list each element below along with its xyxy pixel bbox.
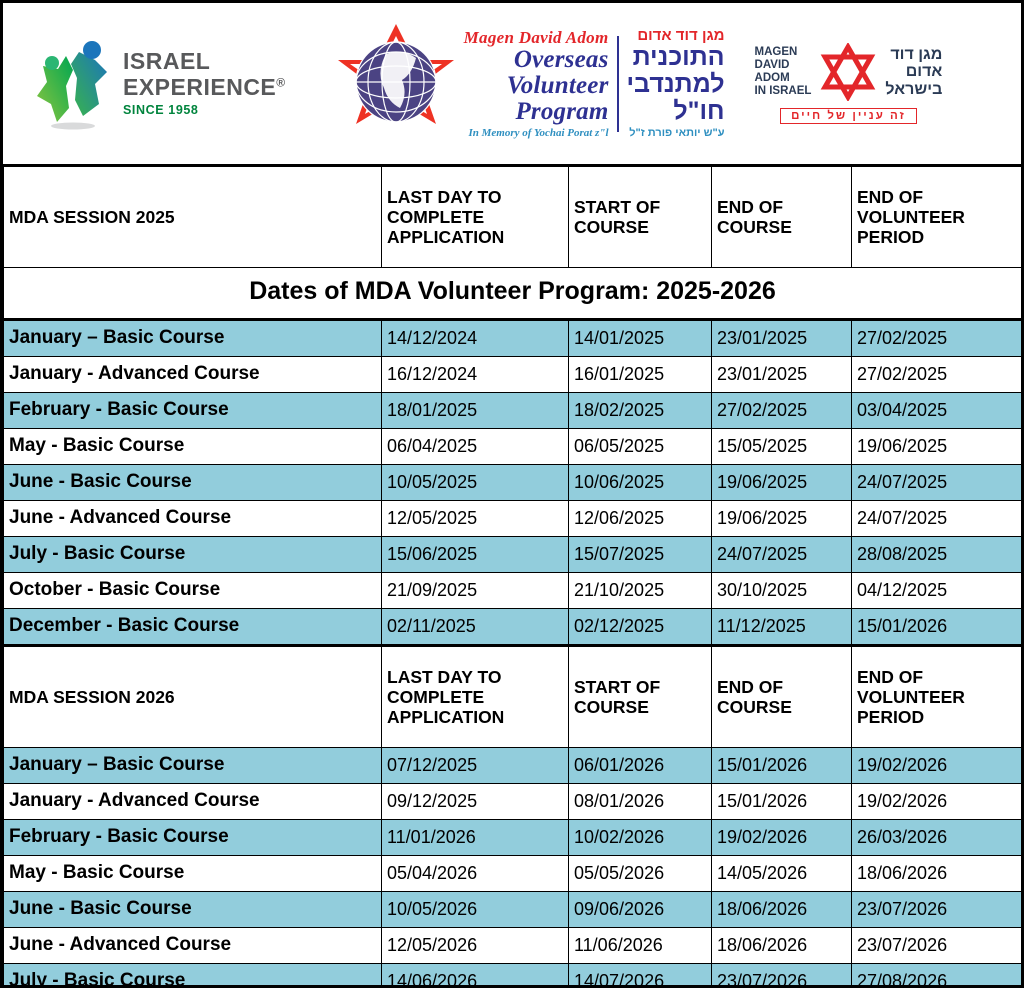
star-of-david-icon: [817, 43, 879, 101]
document-title-row: Dates of MDA Volunteer Program: 2025-202…: [4, 268, 1022, 320]
cell-start-of-course: 05/05/2026: [569, 856, 712, 892]
mda-in-israel-english: MAGEN DAVID ADOM IN ISRAEL: [755, 46, 812, 98]
cell-end-of-volunteer: 03/04/2025: [852, 393, 1022, 429]
cell-last-day: 16/12/2024: [382, 357, 569, 393]
cell-start-of-course: 06/05/2025: [569, 429, 712, 465]
cell-end-of-course: 27/02/2025: [712, 393, 852, 429]
cell-end-of-course: 19/06/2025: [712, 501, 852, 537]
cell-end-of-course: 19/06/2025: [712, 465, 852, 501]
cell-end-of-volunteer: 19/02/2026: [852, 748, 1022, 784]
mda-in-israel-logo: MAGEN DAVID ADOM IN ISRAEL מגן דוד אדום …: [755, 43, 943, 124]
cell-last-day: 18/01/2025: [382, 393, 569, 429]
table-row: June - Basic Course 10/05/2026 09/06/202…: [4, 892, 1022, 928]
cell-start-of-course: 11/06/2026: [569, 928, 712, 964]
israel-experience-line1: ISRAEL: [123, 50, 286, 73]
cell-end-of-course: 30/10/2025: [712, 573, 852, 609]
table-row: June - Basic Course 10/05/2025 10/06/202…: [4, 465, 1022, 501]
table-row: July - Basic Course 14/06/2026 14/07/202…: [4, 964, 1022, 986]
col-header-start-of-course-2025: START OF COURSE: [569, 167, 712, 268]
cell-start-of-course: 14/07/2026: [569, 964, 712, 986]
cell-last-day: 05/04/2026: [382, 856, 569, 892]
cell-last-day: 12/05/2026: [382, 928, 569, 964]
ovp-line1: Overseas: [514, 47, 609, 72]
table-2026-body: January – Basic Course 07/12/2025 06/01/…: [4, 748, 1022, 986]
cell-start-of-course: 10/02/2026: [569, 820, 712, 856]
table-2026-header: MDA SESSION 2026 LAST DAY TO COMPLETE AP…: [4, 647, 1022, 748]
table-row: June - Advanced Course 12/05/2025 12/06/…: [4, 501, 1022, 537]
registered-trademark-icon: ®: [276, 76, 285, 90]
ovp-line2: Volunteer: [507, 73, 609, 98]
israel-experience-logo: ISRAEL EXPERIENCE® SINCE 1958: [33, 38, 286, 130]
cell-session: July - Basic Course: [4, 537, 382, 573]
col-header-start-of-course-2026: START OF COURSE: [569, 647, 712, 748]
israel-experience-tagline: SINCE 1958: [123, 104, 286, 117]
cell-end-of-volunteer: 19/02/2026: [852, 784, 1022, 820]
israel-experience-line2: EXPERIENCE®: [123, 76, 286, 99]
ovp-hebrew-line3: חו"ל: [673, 99, 724, 124]
table-row: January – Basic Course 14/12/2024 14/01/…: [4, 320, 1022, 357]
cell-last-day: 12/05/2025: [382, 501, 569, 537]
ovp-line3: Program: [515, 99, 608, 124]
cell-session: June - Basic Course: [4, 892, 382, 928]
table-session-2026: MDA SESSION 2026 LAST DAY TO COMPLETE AP…: [3, 647, 1021, 985]
table-session-2025: Dates of MDA Volunteer Program: 2025-202…: [3, 167, 1021, 645]
ovp-english-text: Magen David Adom Overseas Volunteer Prog…: [464, 29, 609, 139]
table-row: February - Basic Course 11/01/2026 10/02…: [4, 820, 1022, 856]
table-2025-body: January – Basic Course 14/12/2024 14/01/…: [4, 320, 1022, 645]
cell-end-of-course: 18/06/2026: [712, 928, 852, 964]
cell-start-of-course: 21/10/2025: [569, 573, 712, 609]
cell-last-day: 21/09/2025: [382, 573, 569, 609]
ovp-hebrew-org: מגן דוד אדום: [637, 28, 724, 43]
cell-last-day: 14/12/2024: [382, 320, 569, 357]
cell-session: January - Advanced Course: [4, 357, 382, 393]
table-row: October - Basic Course 21/09/2025 21/10/…: [4, 573, 1022, 609]
table-2025-header: MDA SESSION 2025 LAST DAY TO COMPLETE AP…: [4, 167, 1022, 268]
cell-session: February - Basic Course: [4, 393, 382, 429]
cell-session: December - Basic Course: [4, 609, 382, 645]
cell-end-of-course: 23/01/2025: [712, 357, 852, 393]
col-header-end-of-course-2025: END OF COURSE: [712, 167, 852, 268]
cell-last-day: 07/12/2025: [382, 748, 569, 784]
ovp-hebrew-text: מגן דוד אדום התוכנית למתנדבי חו"ל ע"ש יו…: [627, 28, 725, 139]
document-page: ISRAEL EXPERIENCE® SINCE 1958: [0, 0, 1024, 988]
cell-end-of-course: 24/07/2025: [712, 537, 852, 573]
col-header-end-of-volunteer-2025: END OF VOLUNTEER PERIOD: [852, 167, 1022, 268]
col-header-last-day-2025: LAST DAY TO COMPLETE APPLICATION: [382, 167, 569, 268]
cell-last-day: 15/06/2025: [382, 537, 569, 573]
col-header-session-2026: MDA SESSION 2026: [4, 647, 382, 748]
cell-session: June - Advanced Course: [4, 501, 382, 537]
cell-session: January – Basic Course: [4, 748, 382, 784]
logo-header-band: ISRAEL EXPERIENCE® SINCE 1958: [3, 3, 1021, 167]
cell-session: January – Basic Course: [4, 320, 382, 357]
schedule-tables: Dates of MDA Volunteer Program: 2025-202…: [3, 167, 1021, 985]
cell-end-of-volunteer: 04/12/2025: [852, 573, 1022, 609]
cell-session: June - Advanced Course: [4, 928, 382, 964]
table-row: July - Basic Course 15/06/2025 15/07/202…: [4, 537, 1022, 573]
cell-end-of-volunteer: 23/07/2026: [852, 928, 1022, 964]
cell-end-of-course: 19/02/2026: [712, 820, 852, 856]
ovp-memorial-text: In Memory of Yochai Porat z"l: [468, 128, 608, 139]
col-header-session-2025: MDA SESSION 2025: [4, 167, 382, 268]
cell-end-of-course: 15/05/2025: [712, 429, 852, 465]
table-row: January – Basic Course 07/12/2025 06/01/…: [4, 748, 1022, 784]
cell-last-day: 11/01/2026: [382, 820, 569, 856]
ovp-org-name: Magen David Adom: [464, 29, 609, 46]
cell-start-of-course: 09/06/2026: [569, 892, 712, 928]
cell-last-day: 02/11/2025: [382, 609, 569, 645]
cell-last-day: 10/05/2026: [382, 892, 569, 928]
cell-session: July - Basic Course: [4, 964, 382, 986]
table-row: February - Basic Course 18/01/2025 18/02…: [4, 393, 1022, 429]
cell-last-day: 06/04/2025: [382, 429, 569, 465]
cell-end-of-course: 18/06/2026: [712, 892, 852, 928]
ovp-hebrew-memorial: ע"ש יותאי פורת ז"ל: [629, 128, 724, 139]
cell-end-of-volunteer: 19/06/2025: [852, 429, 1022, 465]
cell-end-of-course: 15/01/2026: [712, 748, 852, 784]
cell-start-of-course: 12/06/2025: [569, 501, 712, 537]
cell-start-of-course: 15/07/2025: [569, 537, 712, 573]
col-header-end-of-volunteer-2026: END OF VOLUNTEER PERIOD: [852, 647, 1022, 748]
cell-end-of-course: 15/01/2026: [712, 784, 852, 820]
cell-session: October - Basic Course: [4, 573, 382, 609]
cell-session: May - Basic Course: [4, 429, 382, 465]
cell-end-of-course: 23/07/2026: [712, 964, 852, 986]
ovp-hebrew-line1: התוכנית: [633, 45, 725, 70]
israel-experience-star-icon: [33, 38, 111, 130]
page-title: Dates of MDA Volunteer Program: 2025-202…: [4, 268, 1022, 320]
mda-slogan-badge: זה עניין של חיים: [780, 108, 917, 124]
cell-end-of-volunteer: 26/03/2026: [852, 820, 1022, 856]
cell-last-day: 14/06/2026: [382, 964, 569, 986]
cell-end-of-volunteer: 28/08/2025: [852, 537, 1022, 573]
cell-end-of-volunteer: 24/07/2025: [852, 501, 1022, 537]
cell-end-of-volunteer: 23/07/2026: [852, 892, 1022, 928]
cell-session: May - Basic Course: [4, 856, 382, 892]
cell-start-of-course: 14/01/2025: [569, 320, 712, 357]
mda-overseas-volunteer-program-logo: Magen David Adom Overseas Volunteer Prog…: [334, 20, 725, 148]
cell-last-day: 10/05/2025: [382, 465, 569, 501]
cell-session: January - Advanced Course: [4, 784, 382, 820]
cell-end-of-volunteer: 27/08/2026: [852, 964, 1022, 986]
table-row: May - Basic Course 05/04/2026 05/05/2026…: [4, 856, 1022, 892]
cell-end-of-course: 11/12/2025: [712, 609, 852, 645]
table-row: December - Basic Course 02/11/2025 02/12…: [4, 609, 1022, 645]
cell-session: June - Basic Course: [4, 465, 382, 501]
cell-last-day: 09/12/2025: [382, 784, 569, 820]
table-row: May - Basic Course 06/04/2025 06/05/2025…: [4, 429, 1022, 465]
israel-experience-wordmark: ISRAEL EXPERIENCE® SINCE 1958: [123, 50, 286, 117]
israel-experience-line2-text: EXPERIENCE: [123, 74, 276, 100]
col-header-last-day-2026: LAST DAY TO COMPLETE APPLICATION: [382, 647, 569, 748]
globe-star-of-david-icon: [334, 20, 458, 148]
ovp-hebrew-line2: למתנדבי: [627, 72, 725, 97]
cell-start-of-course: 16/01/2025: [569, 357, 712, 393]
table-row: January - Advanced Course 09/12/2025 08/…: [4, 784, 1022, 820]
cell-start-of-course: 18/02/2025: [569, 393, 712, 429]
mda-in-israel-row: MAGEN DAVID ADOM IN ISRAEL מגן דוד אדום …: [755, 43, 943, 101]
ovp-divider: [617, 36, 619, 132]
cell-end-of-volunteer: 15/01/2026: [852, 609, 1022, 645]
table-row: January - Advanced Course 16/12/2024 16/…: [4, 357, 1022, 393]
cell-end-of-volunteer: 24/07/2025: [852, 465, 1022, 501]
cell-end-of-volunteer: 18/06/2026: [852, 856, 1022, 892]
cell-end-of-course: 14/05/2026: [712, 856, 852, 892]
cell-start-of-course: 06/01/2026: [569, 748, 712, 784]
cell-session: February - Basic Course: [4, 820, 382, 856]
table-row: June - Advanced Course 12/05/2026 11/06/…: [4, 928, 1022, 964]
cell-start-of-course: 02/12/2025: [569, 609, 712, 645]
cell-end-of-volunteer: 27/02/2025: [852, 357, 1022, 393]
cell-start-of-course: 08/01/2026: [569, 784, 712, 820]
cell-start-of-course: 10/06/2025: [569, 465, 712, 501]
cell-end-of-course: 23/01/2025: [712, 320, 852, 357]
cell-end-of-volunteer: 27/02/2025: [852, 320, 1022, 357]
mda-in-israel-hebrew: מגן דוד אדום בישראל: [885, 46, 942, 98]
col-header-end-of-course-2026: END OF COURSE: [712, 647, 852, 748]
